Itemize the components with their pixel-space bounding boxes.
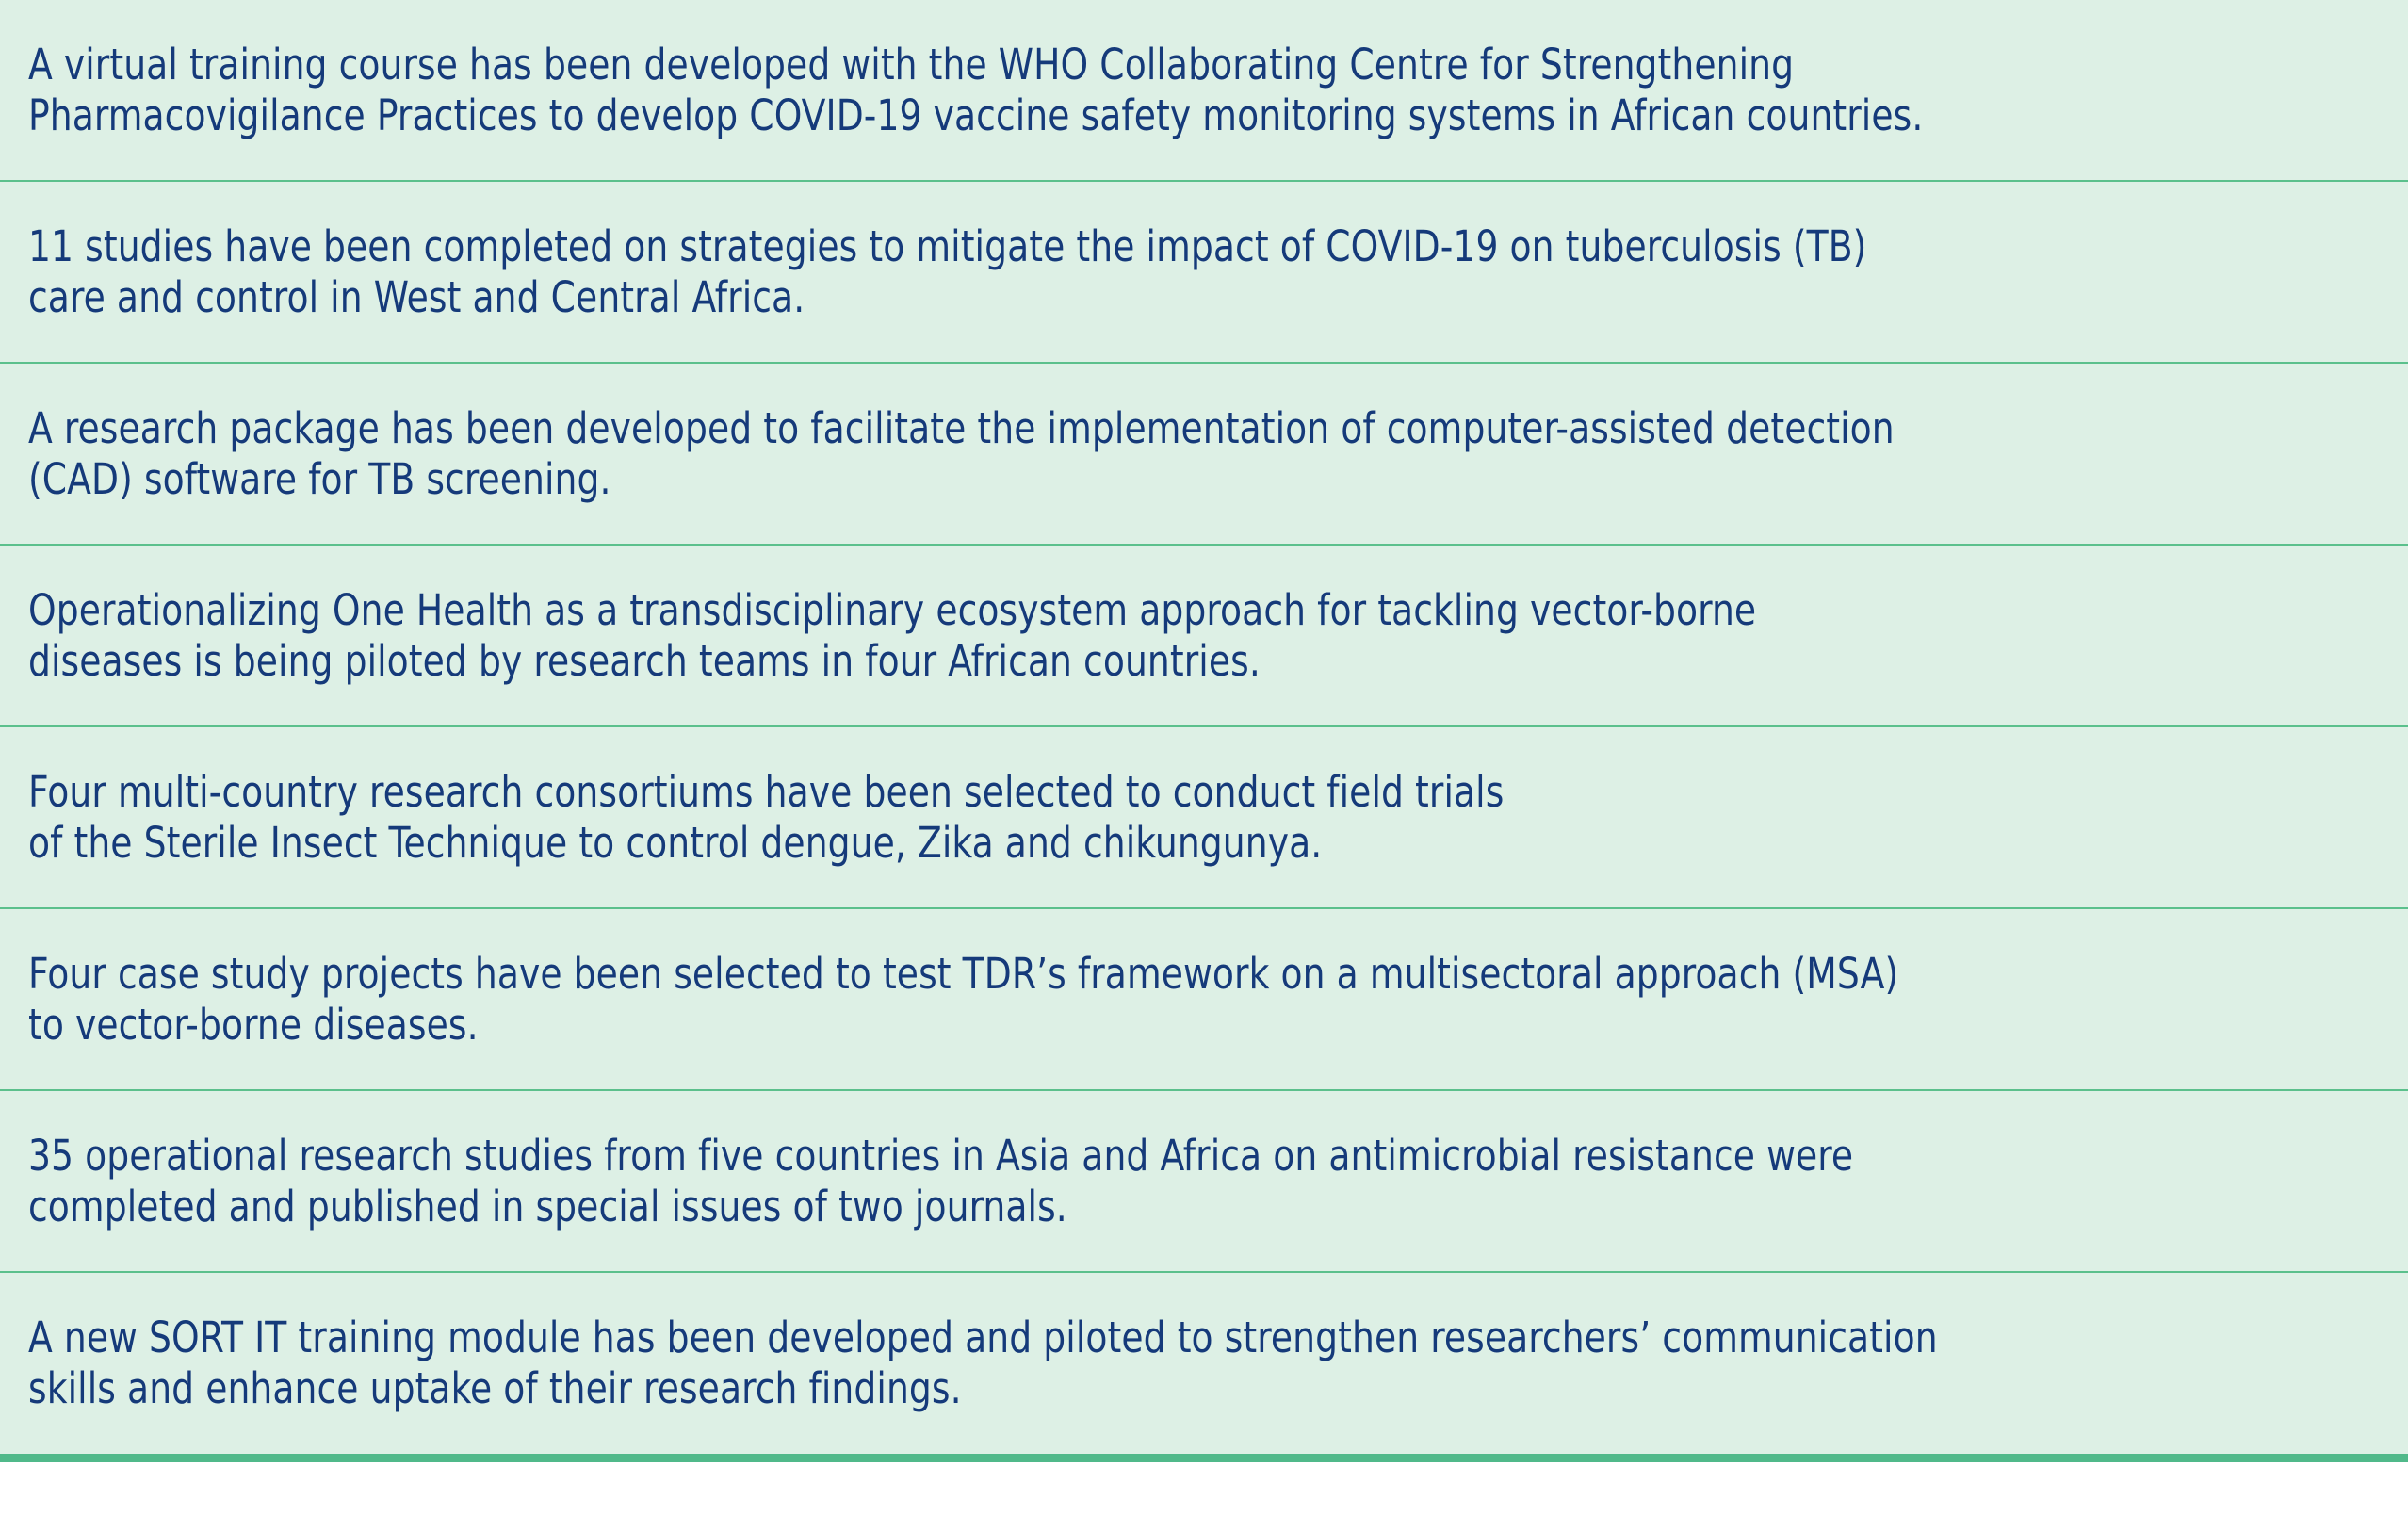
highlight-text: Four multi-country research consortiums … xyxy=(28,767,1504,868)
highlight-row: A virtual training course has been devel… xyxy=(0,0,2408,182)
highlights-panel: A virtual training course has been devel… xyxy=(0,0,2408,1462)
highlight-row: 11 studies have been completed on strate… xyxy=(0,182,2408,364)
highlight-text: 11 studies have been completed on strate… xyxy=(28,221,1866,322)
highlight-row: 35 operational research studies from fiv… xyxy=(0,1091,2408,1273)
highlight-text: A virtual training course has been devel… xyxy=(28,40,1923,140)
highlight-text: A new SORT IT training module has been d… xyxy=(28,1312,1938,1413)
highlight-row: Four multi-country research consortiums … xyxy=(0,727,2408,909)
page-bottom-whitespace xyxy=(0,1462,2408,1516)
highlight-row: Four case study projects have been selec… xyxy=(0,909,2408,1091)
highlight-text: 35 operational research studies from fiv… xyxy=(28,1131,1853,1231)
highlight-row: A new SORT IT training module has been d… xyxy=(0,1273,2408,1454)
highlight-text: Operationalizing One Health as a transdi… xyxy=(28,585,1756,686)
highlight-text: Four case study projects have been selec… xyxy=(28,949,1898,1050)
highlight-row: A research package has been developed to… xyxy=(0,364,2408,546)
highlight-text: A research package has been developed to… xyxy=(28,403,1895,504)
highlight-row: Operationalizing One Health as a transdi… xyxy=(0,546,2408,727)
